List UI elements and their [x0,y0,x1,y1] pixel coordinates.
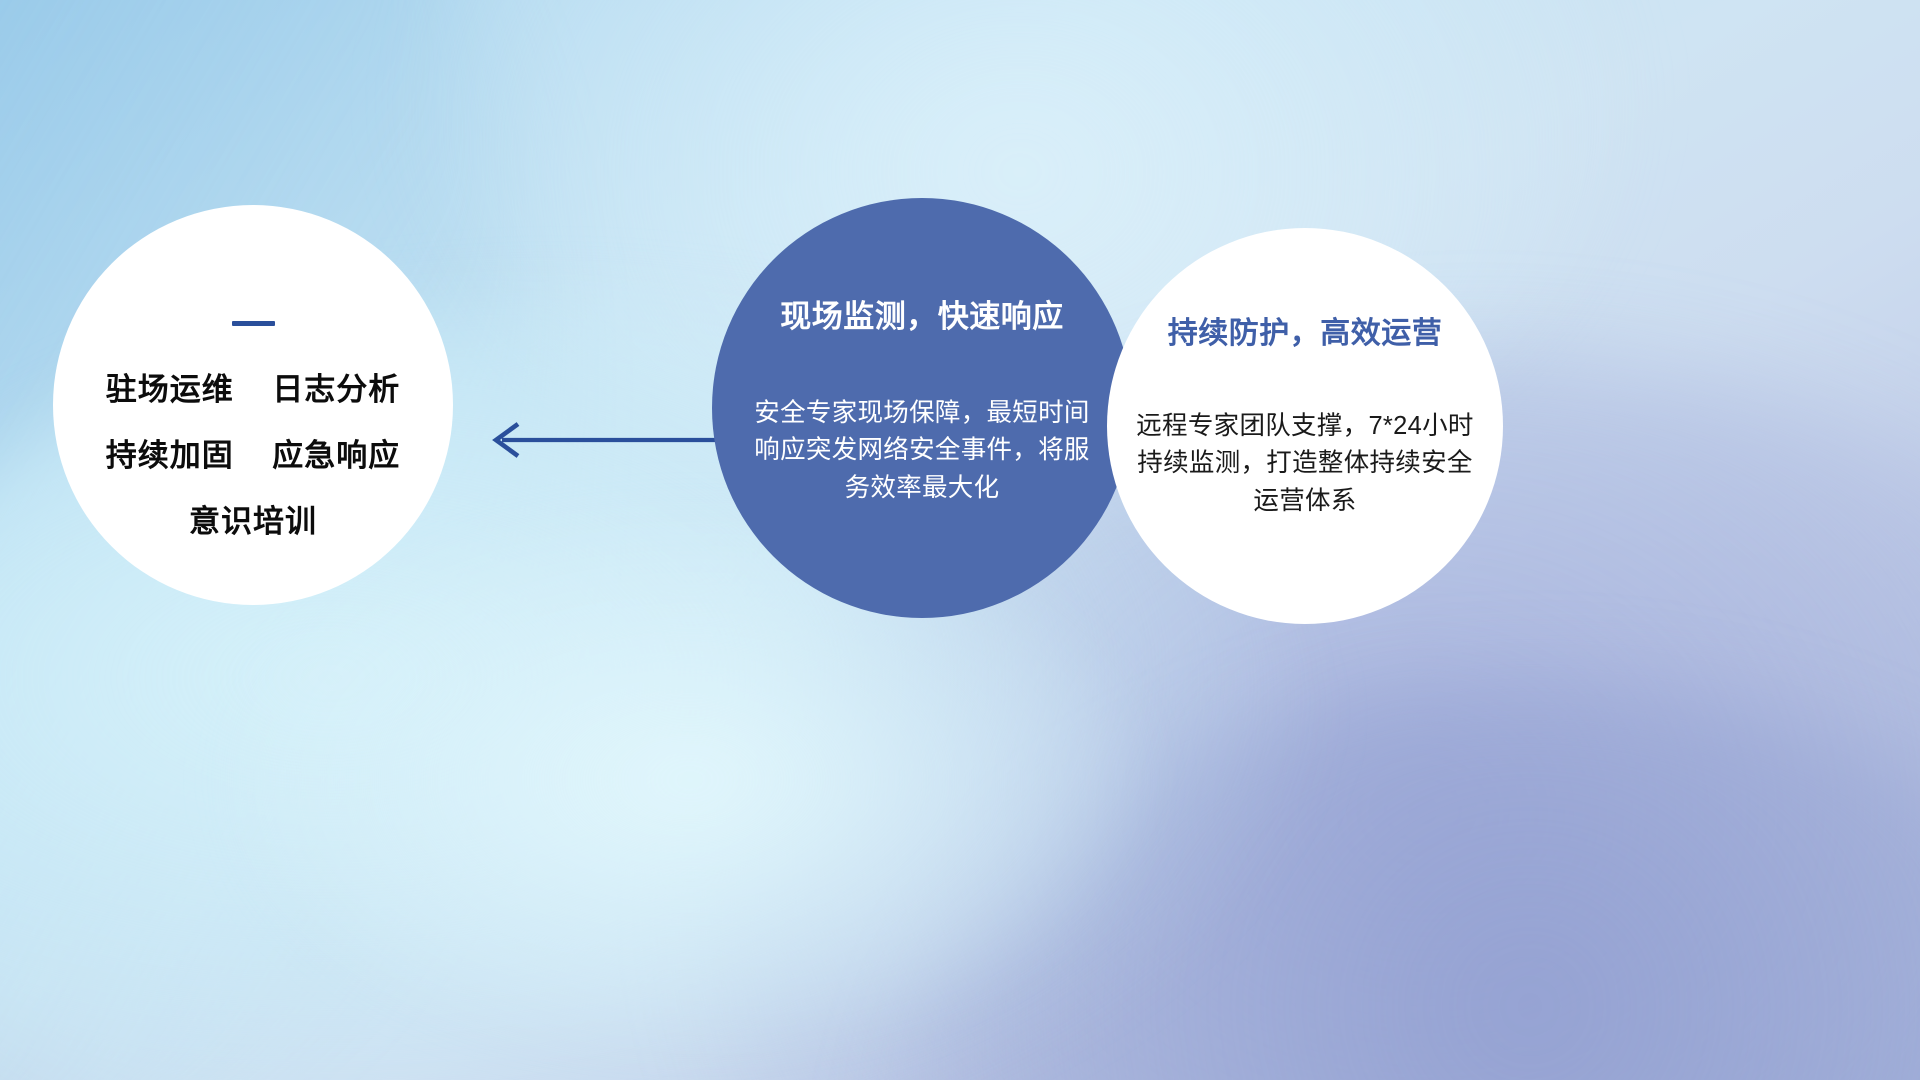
onsite-monitoring-circle[interactable]: 现场监测，快速响应 安全专家现场保障，最短时间响应突发网络安全事件，将服务效率最… [712,198,1132,618]
capability-line-3: 意识培训 [189,506,317,537]
arrow-left-icon [484,418,724,462]
onsite-monitoring-title: 现场监测，快速响应 [712,291,1132,336]
onsite-monitoring-body: 安全专家现场保障，最短时间响应突发网络安全事件，将服务效率最大化 [750,395,1094,507]
capability-line-1: 驻场运维 日志分析 [106,374,400,405]
dash-mark-icon [232,321,275,326]
continuous-protection-body: 远程专家团队支撑，7*24小时持续监测，打造整体持续安全运营体系 [1133,408,1477,520]
capability-line-2: 持续加固 应急响应 [106,440,400,471]
continuous-protection-circle[interactable]: 持续防护，高效运营 远程专家团队支撑，7*24小时持续监测，打造整体持续安全运营… [1107,228,1503,624]
left-capability-circle[interactable]: 驻场运维 日志分析 持续加固 应急响应 意识培训 [53,205,453,605]
continuous-protection-title: 持续防护，高效运营 [1107,308,1503,352]
slide-canvas: 驻场运维 日志分析 持续加固 应急响应 意识培训 现场监测，快速响应 安全专家现… [0,0,1920,1080]
